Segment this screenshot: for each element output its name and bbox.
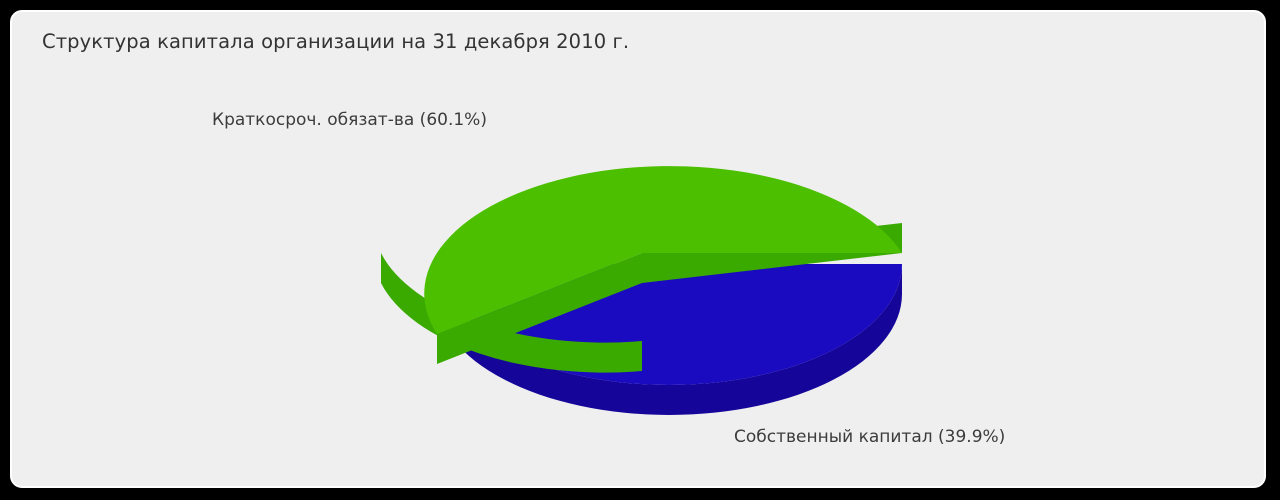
pie-label-sobstvennyy-kapital: Собственный капитал (39.9%) [734, 427, 1005, 447]
page-title: Структура капитала организации на 31 дек… [42, 30, 629, 53]
chart-panel: Структура капитала организации на 31 дек… [10, 10, 1266, 488]
pie-label-kratkosrochnye-obyazatelstva: Краткосроч. обязат-ва (60.1%) [212, 110, 487, 130]
screenshot-root: Структура капитала организации на 31 дек… [0, 0, 1280, 500]
pie-chart [12, 12, 1266, 488]
